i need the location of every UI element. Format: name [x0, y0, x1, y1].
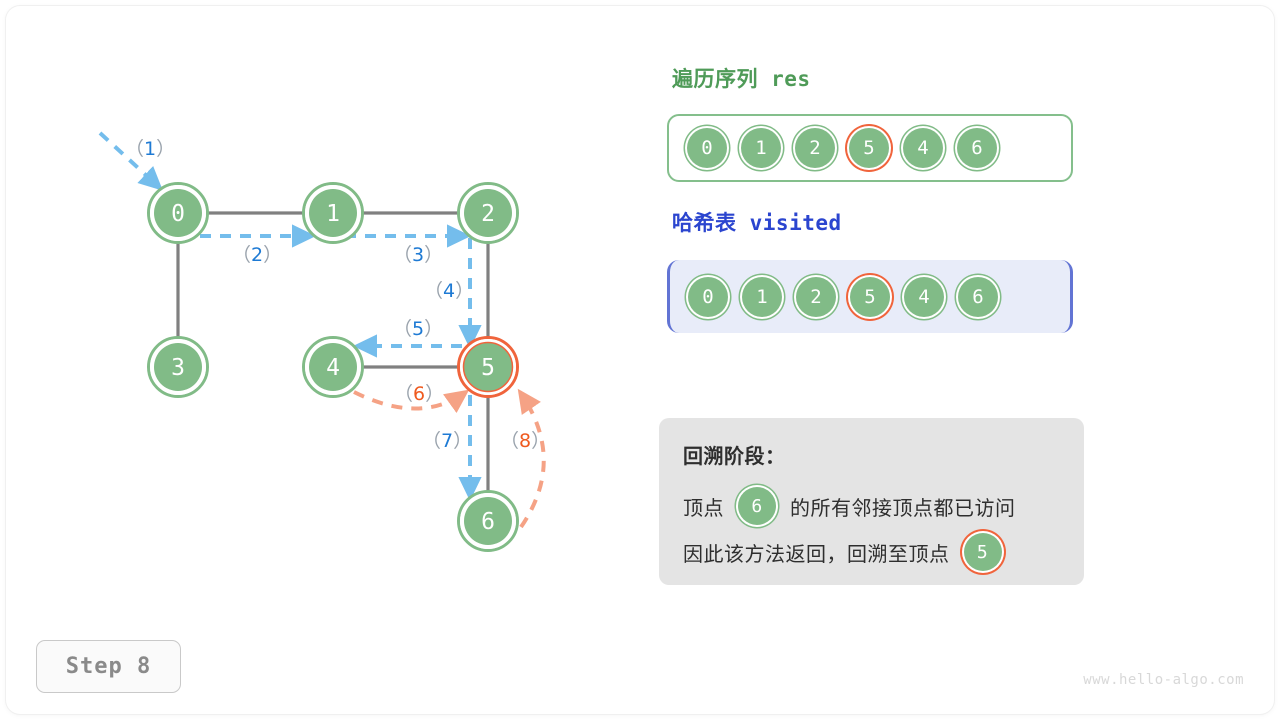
- step-label-3-number: 3: [412, 244, 424, 266]
- step-label-3: （3）: [393, 244, 443, 266]
- step-label-8: （8）: [500, 430, 550, 452]
- step-label-1: （1）: [125, 138, 175, 160]
- graph-node-3[interactable]: 3: [149, 338, 208, 397]
- step-label-4: （4）: [424, 280, 474, 302]
- step-label-7-number: 7: [441, 430, 453, 452]
- explanation-panel: 回溯阶段： 顶点 6 的所有邻接顶点都已访问 因此该方法返回，回溯至顶点 5: [659, 418, 1084, 585]
- arrow-8-6to5: [520, 392, 544, 527]
- res-chip-2[interactable]: 2: [795, 128, 835, 168]
- step-label-2-number: 2: [251, 244, 263, 266]
- visited-title: 哈希表 visited: [672, 207, 842, 237]
- visited-chip-2[interactable]: 2: [796, 277, 836, 317]
- graph-nodes: 0 1 2 3: [149, 184, 518, 551]
- watermark: www.hello-algo.com: [1083, 672, 1244, 688]
- graph-node-5[interactable]: 5: [459, 338, 518, 397]
- explanation-heading: 回溯阶段：: [683, 440, 1060, 469]
- step-label-5-number: 5: [412, 318, 424, 340]
- graph-node-0[interactable]: 0: [149, 184, 208, 243]
- step-label-1-number: 1: [144, 138, 156, 160]
- graph-diagram: 0 1 2 3: [0, 0, 660, 620]
- visited-hashset-box: 0 1 2 5 4 6: [667, 260, 1073, 333]
- graph-node-5-label: 5: [481, 355, 495, 381]
- visited-chip-4[interactable]: 4: [904, 277, 944, 317]
- graph-node-1[interactable]: 1: [304, 184, 363, 243]
- graph-node-6[interactable]: 6: [459, 492, 518, 551]
- res-chip-4[interactable]: 4: [903, 128, 943, 168]
- res-title: 遍历序列 res: [672, 63, 811, 93]
- explanation-line-2: 因此该方法返回，回溯至顶点 5: [683, 529, 1060, 575]
- graph-node-3-label: 3: [171, 355, 185, 381]
- explanation-line-1: 顶点 6 的所有邻接顶点都已访问: [683, 483, 1060, 529]
- graph-node-1-label: 1: [326, 201, 340, 227]
- res-chip-3[interactable]: 5: [849, 128, 889, 168]
- visited-chip-3[interactable]: 5: [850, 277, 890, 317]
- explanation-chip-5: 5: [964, 533, 1002, 571]
- step-label-5: （5）: [393, 318, 443, 340]
- step-label-6-number: 6: [413, 383, 425, 405]
- explanation-line-2-prefix: 因此该方法返回，回溯至顶点: [683, 538, 950, 567]
- visited-chip-5[interactable]: 6: [958, 277, 998, 317]
- res-chip-5[interactable]: 6: [957, 128, 997, 168]
- res-array-box: 0 1 2 5 4 6: [667, 114, 1073, 182]
- graph-node-6-label: 6: [481, 509, 495, 535]
- traversal-arrows-blue: [100, 133, 470, 497]
- explanation-line-1-prefix: 顶点: [683, 492, 724, 521]
- graph-node-4-label: 4: [326, 355, 340, 381]
- step-label-7: （7）: [422, 430, 472, 452]
- slide-canvas: 0 1 2 3: [0, 0, 1280, 720]
- visited-chip-0[interactable]: 0: [688, 277, 728, 317]
- step-badge: Step 8: [36, 640, 181, 693]
- graph-node-4[interactable]: 4: [304, 338, 363, 397]
- graph-node-2[interactable]: 2: [459, 184, 518, 243]
- step-label-8-number: 8: [519, 430, 531, 452]
- graph-node-0-label: 0: [171, 201, 185, 227]
- visited-chip-1[interactable]: 1: [742, 277, 782, 317]
- step-label-2: （2）: [232, 244, 282, 266]
- step-label-6: （6）: [394, 383, 444, 405]
- explanation-chip-6: 6: [738, 487, 776, 525]
- res-chip-1[interactable]: 1: [741, 128, 781, 168]
- explanation-line-1-suffix: 的所有邻接顶点都已访问: [790, 492, 1016, 521]
- res-chip-0[interactable]: 0: [687, 128, 727, 168]
- step-label-4-number: 4: [443, 280, 455, 302]
- graph-node-2-label: 2: [481, 201, 495, 227]
